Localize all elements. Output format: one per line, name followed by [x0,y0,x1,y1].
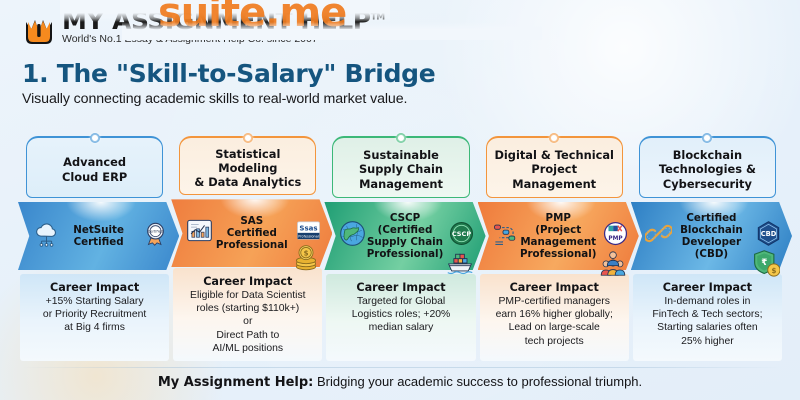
credential-label: SASCertifiedProfessional [214,215,290,251]
svg-text:CBD: CBD [760,230,776,238]
skill-card[interactable]: AdvancedCloud ERP [26,136,163,198]
credential-label: PMP(ProjectManagementProfessional) [518,212,599,261]
career-impact-title: Career Impact [178,275,317,288]
career-impact-title: Career Impact [638,281,777,294]
career-impact-panel: Career ImpactEligible for Data Scientist… [173,268,322,361]
career-impact-text: Targeted for GlobalLogistics roles; +20%… [331,295,470,335]
page-title: 1. The "Skill-to-Salary" Bridge [22,59,800,88]
connector-node-dot [90,133,100,143]
credential-banner[interactable]: NetSuiteCertifiedCertified [18,202,179,270]
cloud-icon [33,220,60,252]
svg-text:₹: ₹ [761,258,767,268]
credential-banner-wrap: CertifiedBlockchainDeveloper(CBD)CBD₹$ [633,202,782,270]
connector-node-dot [702,133,712,143]
page-header: MY ASSIGNMENT HELPTM suite.me World's No… [0,0,800,107]
skill-title: Statistical Modeling& Data Analytics [186,147,309,189]
svg-text:$: $ [771,267,776,275]
chain-link-icon [645,220,672,252]
footer-brand: My Assignment Help: [158,375,314,390]
skill-title: SustainableSupply ChainManagement [359,148,443,190]
cscp-circle-badge-icon: CSCP [449,221,474,251]
bar-chart-icon [186,217,213,249]
certified-ribbon-badge-icon: Certified [143,221,168,251]
skill-column-2: Statistical Modeling& Data AnalyticsSASC… [173,136,322,361]
career-impact-title: Career Impact [331,281,470,294]
credential-banner-wrap: PMP(ProjectManagementProfessional)PMP [480,202,629,270]
logo-trademark: TM [371,13,385,23]
skill-card[interactable]: Digital & TechnicalProject Management [486,136,623,198]
crown-icon [22,12,56,48]
skill-title: AdvancedCloud ERP [62,155,127,183]
career-impact-title: Career Impact [25,281,164,294]
logo-wordmark: MY ASSIGNMENT HELPTM [62,8,385,33]
svg-text:$: $ [304,250,309,258]
svg-text:PMP: PMP [608,236,622,242]
cargo-ship-icon [446,249,474,282]
connector-node-dot [549,133,559,143]
skill-card[interactable]: Statistical Modeling& Data Analytics [179,136,316,195]
skill-to-salary-columns: AdvancedCloud ERPNetSuiteCertifiedCertif… [20,136,782,361]
footer-divider [20,367,782,368]
skill-title: BlockchainTechnologies &Cybersecurity [659,148,756,190]
connector-node-dot [396,133,406,143]
credential-banner-wrap: SASCertifiedProfessionalSsasProfessional… [173,199,322,264]
footer-message: Bridging your academic success to profes… [313,374,642,389]
skill-card[interactable]: SustainableSupply ChainManagement [332,136,469,198]
svg-text:Ssas: Ssas [300,224,318,233]
career-impact-panel: Career ImpactTargeted for GlobalLogistic… [326,274,475,361]
credential-banner-wrap: CSCP(CertifiedSupply ChainProfessional)C… [326,202,475,270]
credential-banner-wrap: NetSuiteCertifiedCertified [20,202,169,270]
gold-coins-icon: $ [292,243,320,276]
svg-text:Professional: Professional [298,235,319,239]
footer-tagline: My Assignment Help: Bridging your academ… [0,374,800,390]
page-subtitle: Visually connecting academic skills to r… [22,91,800,107]
skill-title: Digital & TechnicalProject Management [493,148,616,190]
credential-label: CSCP(CertifiedSupply ChainProfessional) [365,212,446,261]
connector-node-dot [243,133,253,143]
career-impact-text: Eligible for Data Scientistroles (starti… [178,289,317,355]
banner-glow [66,202,136,222]
svg-text:Certified: Certified [148,230,163,234]
pmp-logo-badge-icon: PMP [603,221,628,251]
career-impact-panel: Career Impact+15% Starting Salaryor Prio… [20,274,169,361]
career-impact-text: PMP-certified managersearn 16% higher gl… [485,295,624,348]
credential-label: NetSuiteCertified [71,224,126,248]
brand-logo[interactable]: MY ASSIGNMENT HELPTM suite.me World's No… [0,0,800,48]
cbd-hex-badge-icon: CBD [756,221,781,251]
skill-column-1: AdvancedCloud ERPNetSuiteCertifiedCertif… [20,136,169,361]
credential-label: CertifiedBlockchainDeveloper(CBD) [678,212,745,261]
career-impact-title: Career Impact [485,281,624,294]
skill-card[interactable]: BlockchainTechnologies &Cybersecurity [639,136,776,198]
career-impact-text: +15% Starting Salaryor Priority Recruitm… [25,295,164,335]
globe-icon [339,220,366,252]
skill-column-5: BlockchainTechnologies &CybersecurityCer… [633,136,782,361]
skill-column-4: Digital & TechnicalProject ManagementPMP… [480,136,629,361]
network-flow-icon [492,220,519,252]
career-impact-panel: Career ImpactIn-demand roles inFinTech &… [633,274,782,361]
logo-wordmark-text: MY ASSIGNMENT HELP [62,6,371,35]
svg-text:CSCP: CSCP [452,230,471,238]
shield-rupee-coin-icon: ₹$ [752,249,780,282]
skill-column-3: SustainableSupply ChainManagementCSCP(Ce… [326,136,475,361]
team-people-icon [599,249,627,282]
career-impact-text: In-demand roles inFinTech & Tech sectors… [638,295,777,348]
career-impact-panel: Career ImpactPMP-certified managersearn … [480,274,629,361]
